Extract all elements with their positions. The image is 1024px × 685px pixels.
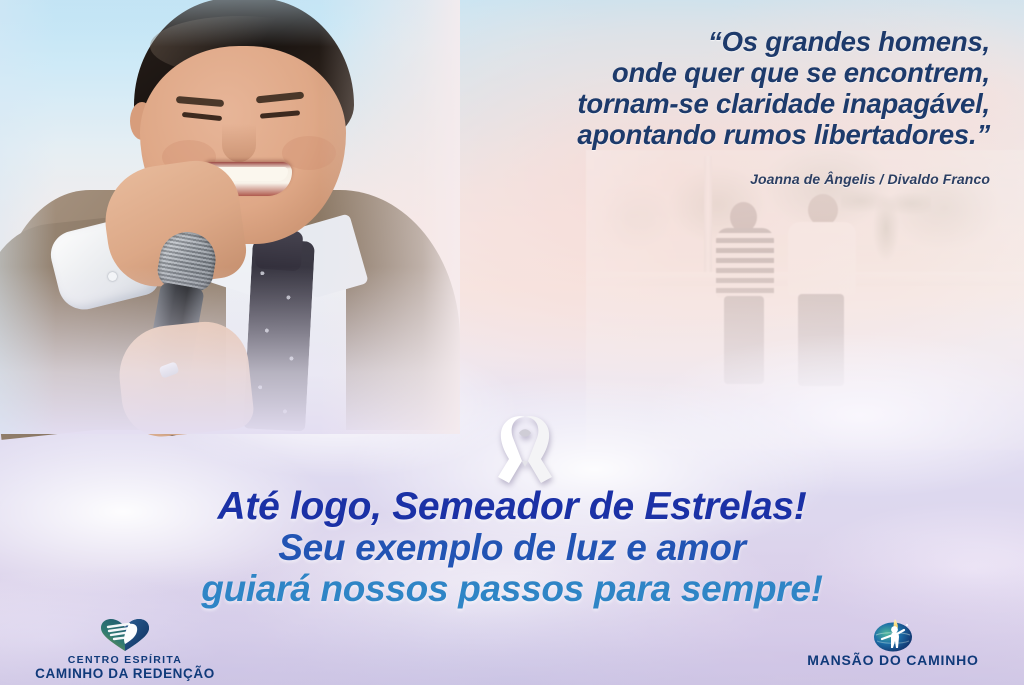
portrait-cuff-button — [108, 272, 117, 281]
logo-right-text: MANSÃO DO CAMINHO — [768, 654, 1018, 666]
portrait-cheek-right — [282, 136, 336, 170]
portrait-divaldo-franco — [10, 0, 440, 424]
logo-mansao-do-caminho: MANSÃO DO CAMINHO — [768, 618, 1018, 666]
quote-line-3: tornam-se claridade inapagável, — [390, 88, 990, 119]
globe-figure-icon — [768, 618, 1018, 652]
quote-line-1: “Os grandes homens, — [390, 26, 990, 57]
headline-line-3: guiará nossos passos para sempre! — [0, 568, 1024, 609]
logo-left-line-2: CAMINHO DA REDENÇÃO — [0, 668, 250, 680]
quote-block: “Os grandes homens, onde quer que se enc… — [390, 26, 990, 150]
memorial-poster: “Os grandes homens, onde quer que se enc… — [0, 0, 1024, 685]
headline-line-2: Seu exemplo de luz e amor — [0, 527, 1024, 568]
quote-attribution: Joanna de Ângelis / Divaldo Franco — [390, 171, 990, 187]
quote-line-2: onde quer que se encontrem, — [390, 57, 990, 88]
headline-block: Até logo, Semeador de Estrelas! Seu exem… — [0, 486, 1024, 609]
portrait-nose — [222, 124, 256, 162]
quote-line-4: apontando rumos libertadores.” — [390, 119, 990, 150]
logo-left-text: CENTRO ESPÍRITA CAMINHO DA REDENÇÃO — [0, 654, 250, 680]
mourning-ribbon-icon — [489, 411, 561, 489]
heart-hands-icon — [0, 618, 250, 652]
headline-line-1: Até logo, Semeador de Estrelas! — [0, 486, 1024, 527]
logo-centro-espirita: CENTRO ESPÍRITA CAMINHO DA REDENÇÃO — [0, 618, 250, 680]
logo-left-line-1: CENTRO ESPÍRITA — [0, 654, 250, 666]
logo-right-name: MANSÃO DO CAMINHO — [768, 654, 1018, 666]
